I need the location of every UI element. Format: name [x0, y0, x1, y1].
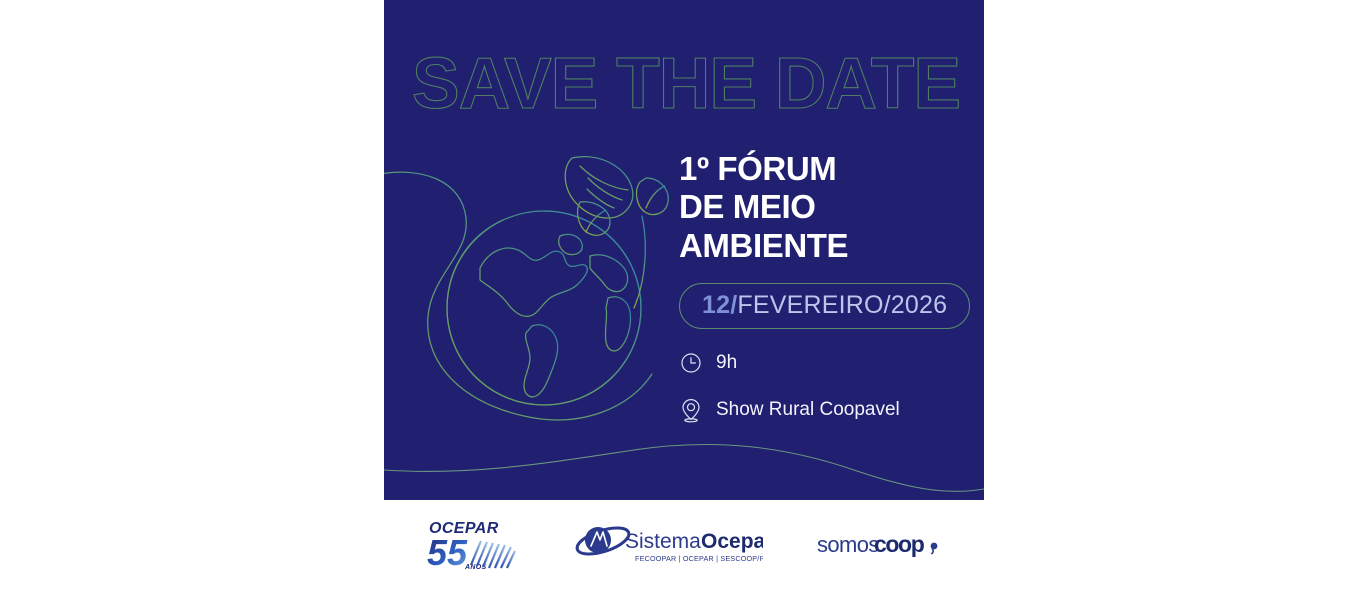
event-location-label: Show Rural Coopavel: [716, 399, 900, 421]
location-pin-icon: [679, 397, 703, 423]
save-the-date-banner: SAVE THE DATE: [412, 48, 960, 120]
ocepar-word: Ocepar: [701, 530, 763, 553]
sistema-ocepar-sub: FECOOPAR | OCEPAR | SESCOOP/PR: [635, 554, 763, 563]
somos-word: somos: [817, 532, 879, 557]
event-date-day: 12/: [702, 291, 737, 319]
event-location-row: Show Rural Coopavel: [679, 397, 969, 423]
footer-logos: OCEPAR 55 ANOS: [384, 516, 984, 572]
event-details: 1º FÓRUM DE MEIO AMBIENTE 12/FEVEREIRO/2…: [679, 150, 969, 423]
event-date-badge: 12/FEVEREIRO/2026: [679, 283, 970, 329]
sistema-ocepar-orbit-mark: [574, 523, 632, 560]
event-time-row: 9h: [679, 350, 969, 376]
somoscoop-logo: somos coop: [815, 527, 943, 561]
ocepar-55-number: 55: [427, 532, 468, 572]
event-title: 1º FÓRUM DE MEIO AMBIENTE: [679, 150, 969, 265]
ocepar-hatch-stripes: [471, 541, 515, 568]
save-the-date-text: SAVE THE DATE: [412, 48, 960, 120]
somoscoop-tail-icon: [932, 549, 933, 554]
poster-canvas: SAVE THE DATE: [384, 0, 984, 594]
sistema-ocepar-logo: Sistema Ocepar FECOOPAR | OCEPAR | SESCO…: [573, 519, 763, 569]
event-date-month: FEVEREIRO/2026: [737, 291, 947, 319]
coop-word: coop: [874, 531, 925, 557]
event-time-label: 9h: [716, 352, 737, 374]
clock-icon: [679, 350, 703, 376]
ocepar-55-anos-logo: OCEPAR 55 ANOS: [425, 516, 521, 572]
somoscoop-dot-icon: [931, 543, 938, 550]
sistema-word: Sistema: [625, 530, 701, 553]
